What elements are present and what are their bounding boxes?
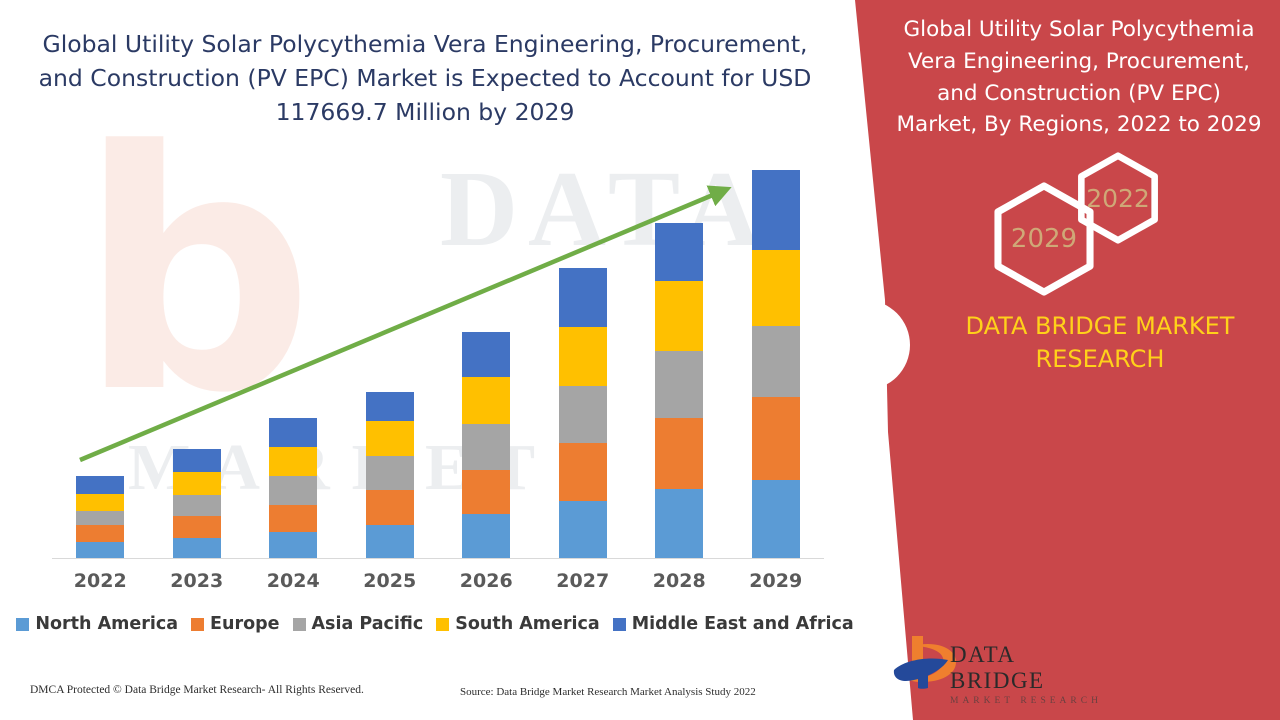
bar-segment [366,490,414,524]
bar-column [543,170,623,558]
bar-segment [752,480,800,558]
bar-segment [559,327,607,386]
bar-segment [752,326,800,397]
legend-swatch-icon [613,618,626,631]
legend-label: South America [455,614,599,634]
bar-segment [173,538,221,558]
bar-column [253,170,333,558]
bar-segment [76,525,124,543]
x-axis-tick-label: 2022 [60,570,140,592]
legend-swatch-icon [16,618,29,631]
bar-column [446,170,526,558]
bar-segment [559,443,607,501]
bar-segment [462,470,510,515]
hexagon-badges: 2022 2029 [985,155,1185,280]
bar-segment [655,351,703,418]
legend-item[interactable]: Asia Pacific [293,614,424,634]
hex-badge-2022-label: 2022 [1086,184,1150,213]
bar-column [60,170,140,558]
bar-segment [366,392,414,421]
legend-swatch-icon [436,618,449,631]
legend-item[interactable]: South America [436,614,599,634]
bar-segment [366,525,414,558]
stacked-bar [559,268,607,558]
stacked-bar [655,223,703,558]
bar-segment [173,516,221,538]
bar-segment [269,418,317,447]
page-title: Global Utility Solar Polycythemia Vera E… [30,28,820,129]
bar-column [736,170,816,558]
bar-segment [655,489,703,558]
bar-segment [76,476,124,494]
x-axis-tick-label: 2027 [543,570,623,592]
bar-segment [752,250,800,326]
bar-segment [752,397,800,480]
x-axis-tick-label: 2024 [253,570,333,592]
bar-segment [269,505,317,532]
bar-segment [752,170,800,250]
legend-label: Europe [210,614,279,634]
x-axis-tick-label: 2029 [736,570,816,592]
bar-column [157,170,237,558]
x-axis-tick-label: 2023 [157,570,237,592]
panel-white-circle [820,300,910,390]
panel-title: Global Utility Solar Polycythemia Vera E… [894,14,1264,141]
logo-sub-text: MARKET RESEARCH [950,696,1110,706]
bar-segment [269,532,317,558]
bar-segment [655,418,703,490]
x-axis-tick-label: 2028 [639,570,719,592]
bar-segment [269,447,317,476]
bar-segment [462,424,510,470]
legend-item[interactable]: North America [16,614,178,634]
bar-column [639,170,719,558]
logo-main-text: DATA BRIDGE [950,642,1110,694]
legend-label: North America [35,614,178,634]
bar-segment [655,281,703,351]
bar-segment [559,501,607,558]
footer-copyright: DMCA Protected © Data Bridge Market Rese… [30,684,364,696]
stacked-bar [366,392,414,558]
bar-segment [269,476,317,505]
stacked-bar [76,476,124,558]
brand-name: DATA BRIDGE MARKET RESEARCH [950,310,1250,376]
infographic-root: b DATA MARKET Global Utility Solar Polyc… [0,0,1280,720]
bar-segment [366,456,414,490]
bar-segment [462,514,510,558]
bar-column [350,170,430,558]
bar-segment [559,386,607,442]
bar-segment [173,495,221,517]
stacked-bar [462,332,510,558]
bar-segment [173,449,221,472]
hex-badge-2029-label: 2029 [1011,224,1077,254]
legend-item[interactable]: Middle East and Africa [613,614,854,634]
stacked-bar [269,418,317,558]
bar-segment [462,377,510,424]
x-axis-labels: 20222023202420252026202720282029 [52,570,824,592]
footer-source: Source: Data Bridge Market Research Mark… [460,686,756,698]
bar-segment [76,511,124,525]
stacked-bar [752,170,800,558]
bar-segment [173,472,221,495]
bar-segment [655,223,703,281]
stacked-bar [173,449,221,558]
legend-item[interactable]: Europe [191,614,279,634]
legend-swatch-icon [191,618,204,631]
x-axis-line [52,558,824,559]
x-axis-tick-label: 2025 [350,570,430,592]
x-axis-tick-label: 2026 [446,570,526,592]
bar-segment [76,542,124,558]
bar-segment [559,268,607,327]
legend-label: Asia Pacific [312,614,424,634]
legend-swatch-icon [293,618,306,631]
stacked-bar-chart [52,170,824,558]
data-bridge-logo-text: DATA BRIDGE MARKET RESEARCH [950,642,1110,706]
legend-label: Middle East and Africa [632,614,854,634]
chart-legend: North AmericaEuropeAsia PacificSouth Ame… [40,614,830,634]
bar-segment [462,332,510,377]
bar-segment [76,494,124,512]
bar-segment [366,421,414,456]
